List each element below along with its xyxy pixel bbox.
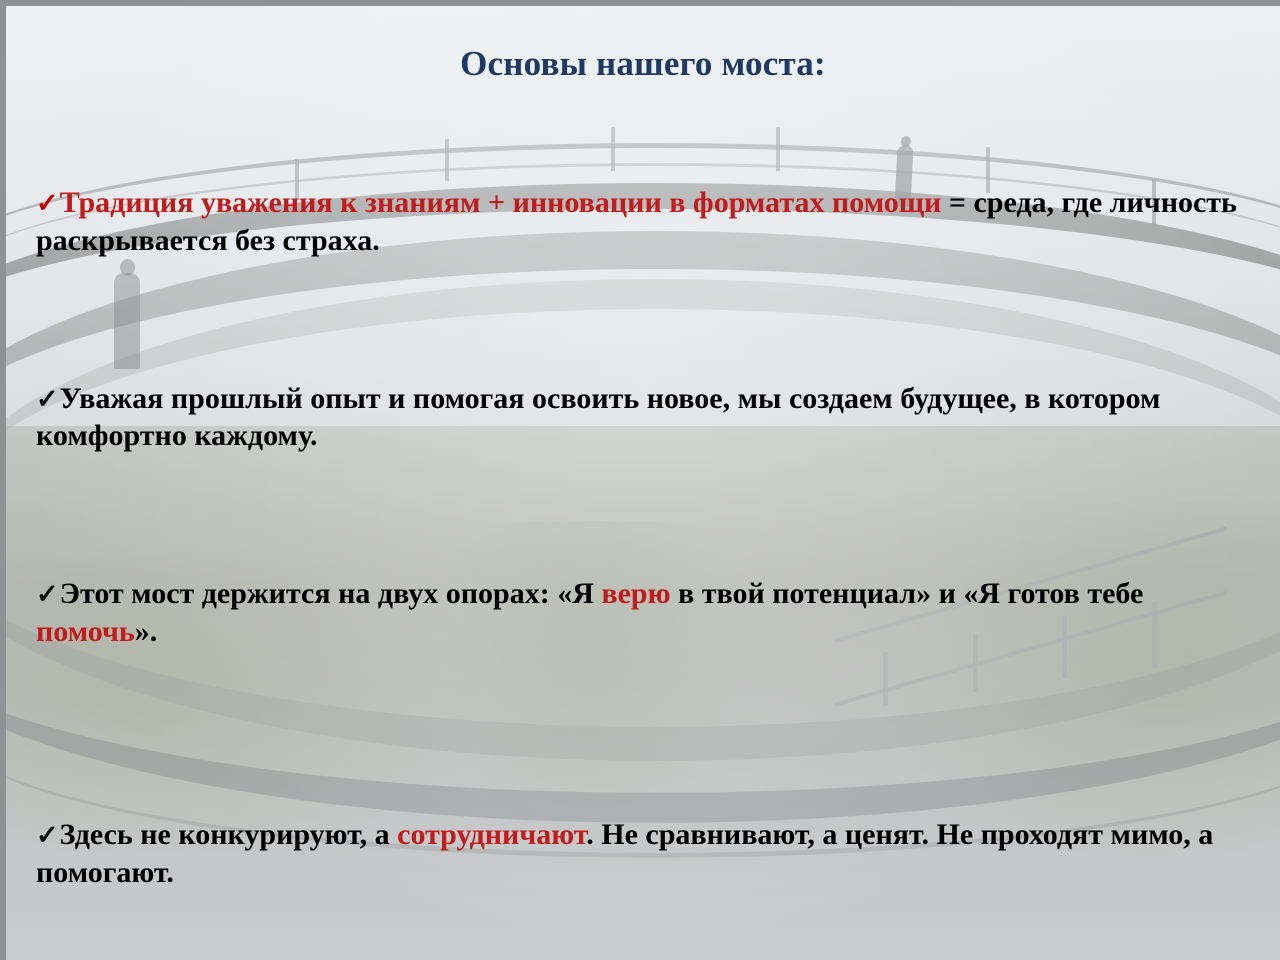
checkmark-icon: ✓ bbox=[36, 579, 59, 609]
bullet-item-4: ✓Здесь не конкурируют, а сотрудничают. Н… bbox=[36, 816, 1252, 892]
bullet-list: ✓Традиция уважения к знаниям + инновации… bbox=[36, 184, 1252, 921]
bullet-4-segment-1: Здесь не конкурируют, а bbox=[60, 818, 398, 851]
bullet-item-3: ✓Этот мост держится на двух опорах: «Я в… bbox=[36, 575, 1252, 651]
checkmark-icon: ✓ bbox=[36, 384, 59, 414]
bullet-2-segment-1: Уважая прошлый опыт и помогая освоить но… bbox=[36, 382, 1160, 453]
checkmark-icon: ✓ bbox=[36, 820, 59, 850]
bullet-3-segment-4: помочь bbox=[36, 615, 135, 648]
presentation-slide: Основы нашего моста: ✓Традиция уважения … bbox=[0, 0, 1280, 960]
bullet-item-2: ✓Уважая прошлый опыт и помогая освоить н… bbox=[36, 380, 1252, 456]
bullet-item-1: ✓Традиция уважения к знаниям + инновации… bbox=[36, 184, 1252, 260]
bullet-3-segment-2: верю bbox=[601, 577, 670, 610]
bullet-3-segment-5: ». bbox=[135, 615, 158, 648]
bullet-3-segment-1: Этот мост держится на двух опорах: «Я bbox=[60, 577, 602, 610]
bullet-1-segment-1: Традиция уважения к знаниям + инновации … bbox=[60, 186, 942, 219]
checkmark-icon: ✓ bbox=[36, 188, 59, 218]
bullet-4-segment-2: сотрудничают bbox=[397, 818, 586, 851]
bullet-3-segment-3: в твой потенциал» и «Я готов тебе bbox=[671, 577, 1144, 610]
slide-content: Основы нашего моста: ✓Традиция уважения … bbox=[6, 6, 1280, 960]
slide-title: Основы нашего моста: bbox=[6, 44, 1280, 84]
